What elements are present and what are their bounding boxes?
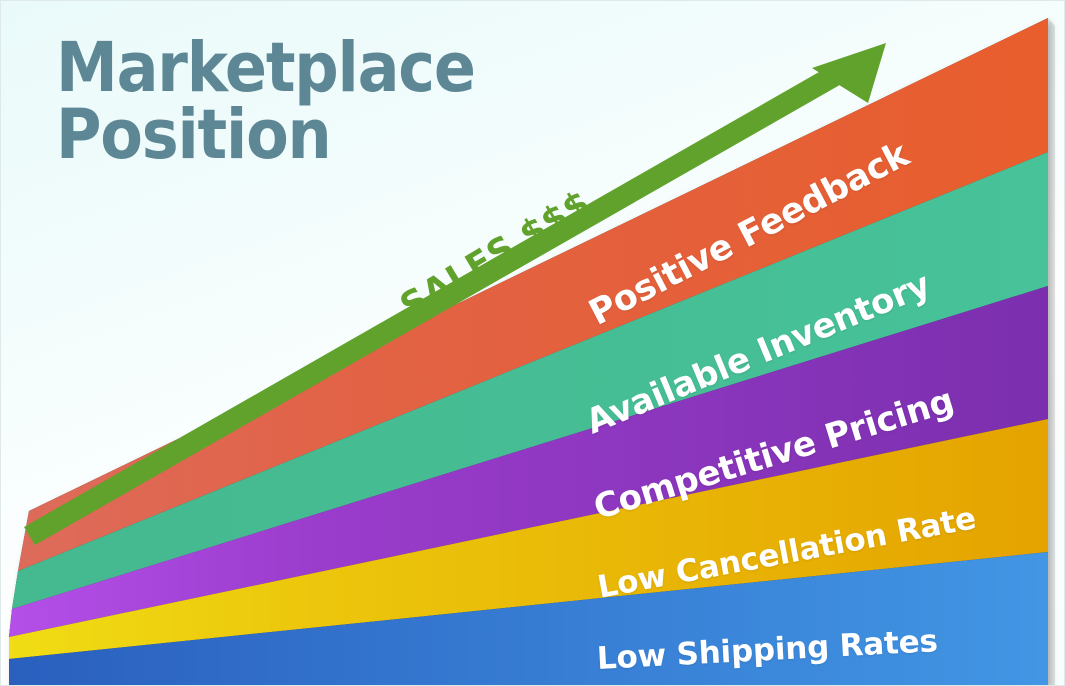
sales-annotation: SALES $$$ (394, 183, 598, 327)
page-title: Marketplace Position (56, 35, 475, 169)
infographic-canvas: Marketplace Position SALES $$$ Positive … (0, 0, 1065, 686)
label-layer: Marketplace Position SALES $$$ Positive … (0, 0, 1065, 686)
band-label-low-shipping-rates: Low Shipping Rates (596, 623, 938, 677)
band-label-low-cancellation-rate: Low Cancellation Rate (595, 500, 979, 605)
